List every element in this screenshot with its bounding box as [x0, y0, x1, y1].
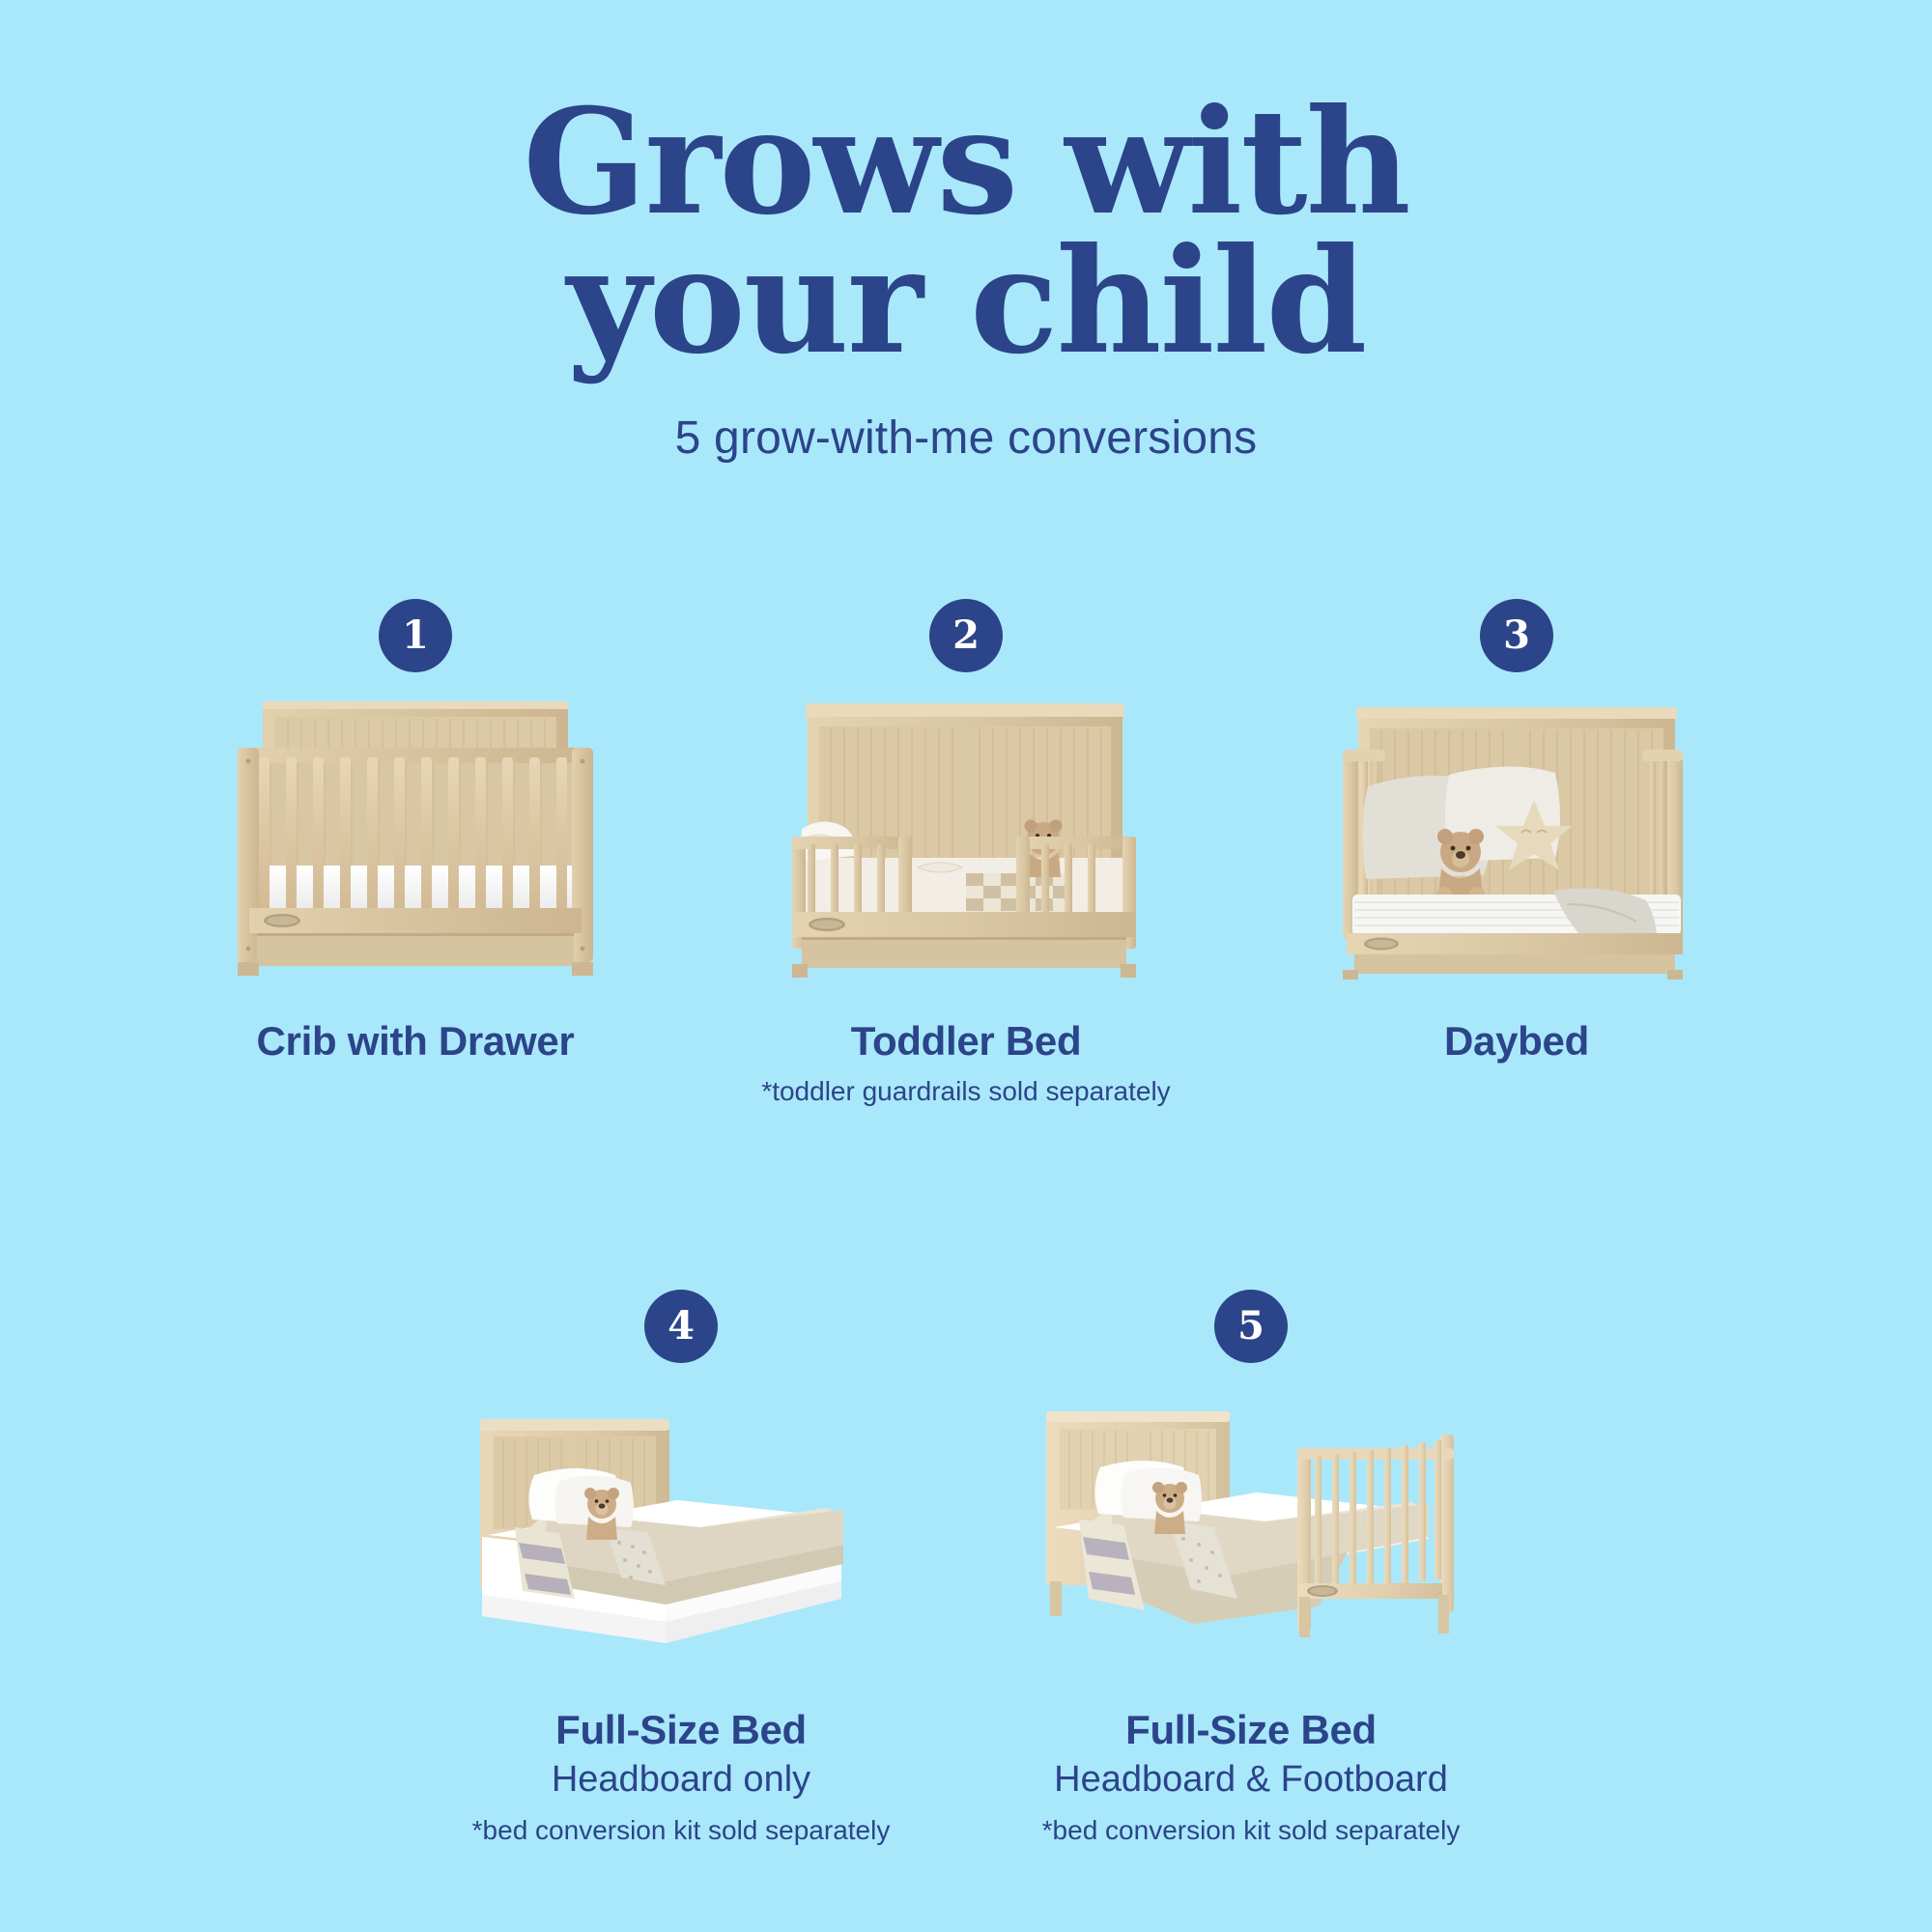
- conversion-item-daybed: 3: [1241, 599, 1792, 1108]
- caption-3: Daybed: [1217, 1018, 1816, 1064]
- conversion-row-top: 1: [0, 599, 1932, 1108]
- conversion-item-full-size-bed-headboard: 4: [396, 1290, 966, 1846]
- caption-1: Crib with Drawer: [116, 1018, 715, 1064]
- header: Grows with your child 5 grow-with-me con…: [0, 93, 1932, 465]
- conversion-title: Daybed: [1217, 1018, 1816, 1064]
- step-badge-3: 3: [1480, 599, 1553, 672]
- conversion-title: Toddler Bed: [667, 1018, 1265, 1064]
- conversion-title: Crib with Drawer: [116, 1018, 715, 1064]
- conversion-note: *bed conversion kit sold separately: [382, 1814, 980, 1847]
- crib-with-drawer-illustration: [140, 694, 691, 983]
- conversion-item-toddler-bed: 2: [691, 599, 1241, 1108]
- step-badge-4: 4: [644, 1290, 718, 1363]
- daybed-illustration: [1241, 694, 1792, 983]
- step-badge-1: 1: [379, 599, 452, 672]
- toddler-bed-illustration: [691, 694, 1241, 983]
- conversion-note: *toddler guardrails sold separately: [667, 1075, 1265, 1108]
- conversion-item-full-size-bed-headboard-footboard: 5: [966, 1290, 1536, 1846]
- caption-4: Full-Size Bed Headboard only *bed conver…: [382, 1707, 980, 1846]
- conversion-row-bottom: 4: [0, 1290, 1932, 1846]
- step-badge-5: 5: [1214, 1290, 1288, 1363]
- conversion-item-crib-with-drawer: 1: [140, 599, 691, 1108]
- infographic-canvas: Grows with your child 5 grow-with-me con…: [0, 0, 1932, 1932]
- conversion-subtitle: Headboard only: [382, 1758, 980, 1803]
- conversion-note: *bed conversion kit sold separately: [952, 1814, 1550, 1847]
- caption-5: Full-Size Bed Headboard & Footboard *bed…: [952, 1707, 1550, 1846]
- caption-2: Toddler Bed *toddler guardrails sold sep…: [667, 1018, 1265, 1108]
- full-size-bed-headboard-footboard-illustration: [966, 1392, 1536, 1682]
- page-title: Grows with your child: [0, 93, 1932, 371]
- conversion-title: Full-Size Bed: [952, 1707, 1550, 1752]
- conversion-title: Full-Size Bed: [382, 1707, 980, 1752]
- step-badge-2: 2: [929, 599, 1003, 672]
- conversion-subtitle: Headboard & Footboard: [952, 1758, 1550, 1803]
- full-size-bed-headboard-illustration: [396, 1392, 966, 1682]
